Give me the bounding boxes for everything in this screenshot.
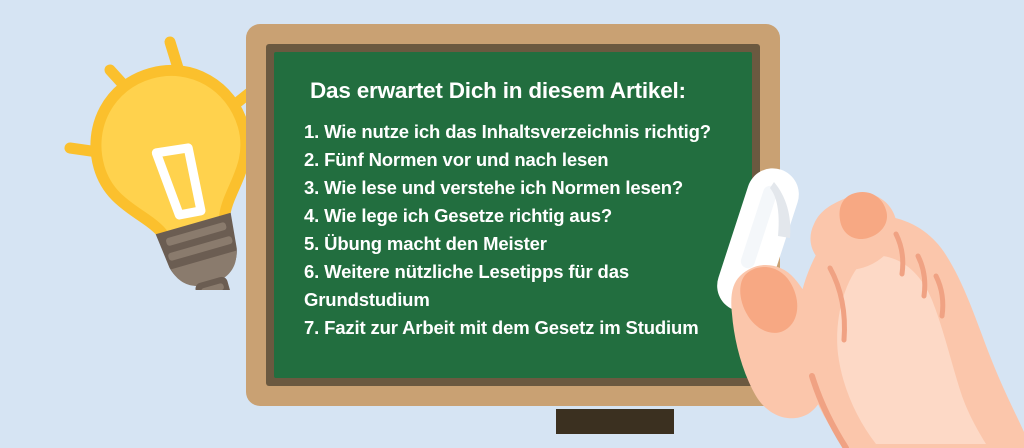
chalk-in-hand-illustration bbox=[700, 160, 1024, 448]
chalkboard-inner-border: Das erwartet Dich in diesem Artikel: 1. … bbox=[266, 44, 760, 386]
list-item: 7. Fazit zur Arbeit mit dem Gesetz im St… bbox=[304, 314, 724, 342]
list-item: 2. Fünf Normen vor und nach lesen bbox=[304, 146, 724, 174]
list-item: 4. Wie lege ich Gesetze richtig aus? bbox=[304, 202, 724, 230]
illustration-scene: Das erwartet Dich in diesem Artikel: 1. … bbox=[0, 0, 1024, 448]
chalk-tray-eraser-block bbox=[556, 409, 674, 434]
lightbulb-ray-top bbox=[170, 42, 178, 68]
chalkboard-content: Das erwartet Dich in diesem Artikel: 1. … bbox=[304, 78, 746, 342]
list-item: 5. Übung macht den Meister bbox=[304, 230, 724, 258]
list-item: 6. Weitere nützliche Lesetipps für das G… bbox=[304, 258, 724, 314]
list-item: 1. Wie nutze ich das Inhaltsverzeichnis … bbox=[304, 118, 724, 146]
article-outline-list: 1. Wie nutze ich das Inhaltsverzeichnis … bbox=[304, 118, 746, 342]
chalkboard-surface: Das erwartet Dich in diesem Artikel: 1. … bbox=[274, 52, 752, 378]
page-title: Das erwartet Dich in diesem Artikel: bbox=[310, 78, 746, 104]
list-item: 3. Wie lese und verstehe ich Normen lese… bbox=[304, 174, 724, 202]
